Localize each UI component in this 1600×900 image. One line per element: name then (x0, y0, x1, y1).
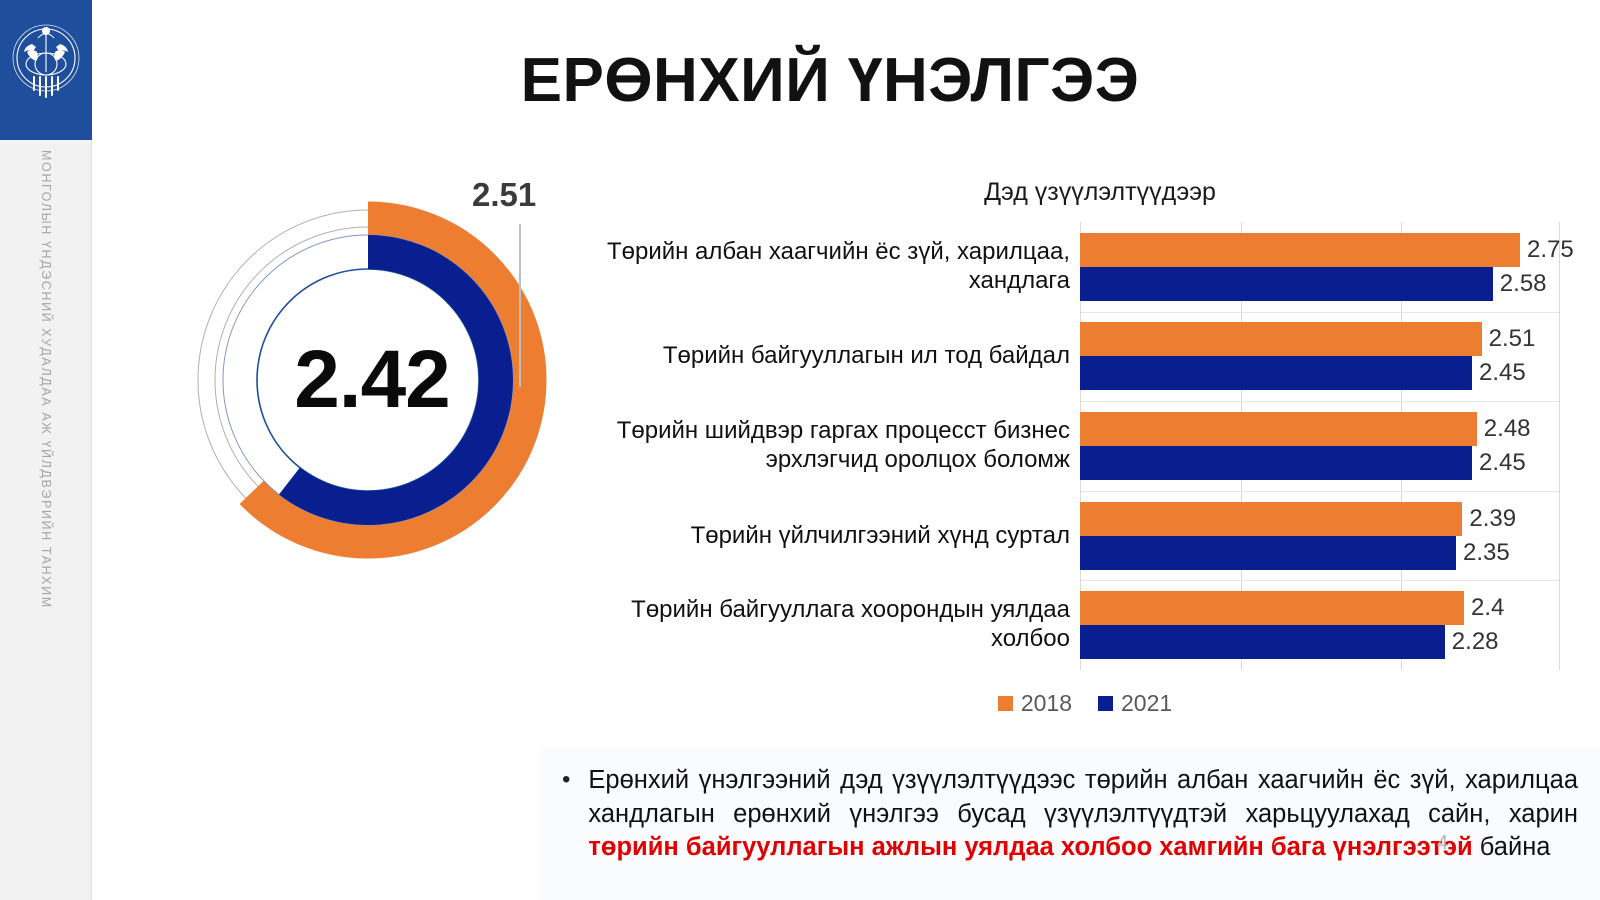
legend-item-2021[interactable]: 2021 (1098, 690, 1172, 717)
legend-item-2018[interactable]: 2018 (998, 690, 1072, 717)
note-highlight: төрийн байгууллагын ажлын уялдаа холбоо … (588, 833, 1472, 861)
bar-value-label-2018: 2.48 (1477, 415, 1531, 443)
bar-chart-row: Төрийн шийдвэр гаргах процесст бизнес эр… (600, 401, 1570, 491)
bar-value-label-2021: 2.28 (1445, 628, 1499, 656)
bar-value-label-2018: 2.39 (1462, 505, 1516, 533)
bar-value-label-2018: 2.75 (1520, 236, 1574, 264)
bar-value-label-2018: 2.4 (1464, 594, 1504, 622)
bar-2021[interactable] (1080, 267, 1493, 301)
bar-chart-heading: Дэд үзүүлэлтүүдээр (830, 178, 1370, 207)
bar-value-label-2021: 2.45 (1472, 359, 1526, 387)
bar-value-label-2021: 2.35 (1456, 539, 1510, 567)
bar-2018[interactable] (1080, 412, 1477, 446)
sub-indicator-bar-chart: Төрийн албан хаагчийн ёс зүй, харилцаа, … (600, 222, 1570, 682)
donut-center-value: 2.42 (232, 290, 512, 470)
bar-chart-legend: 2018 2021 (600, 690, 1570, 717)
bar-chart-row: Төрийн албан хаагчийн ёс зүй, харилцаа, … (600, 222, 1570, 312)
legend-label-2021: 2021 (1121, 690, 1172, 717)
summary-note-box: • Ерөнхий үнэлгээний дэд үзүүлэлтүүдээс … (540, 748, 1600, 900)
note-part-2: байна (1473, 833, 1551, 861)
bar-2018[interactable] (1080, 233, 1520, 267)
bullet-glyph: • (562, 764, 570, 794)
bar-category-label: Төрийн үйлчилгээний хүнд суртал (600, 521, 1070, 550)
bar-value-label-2021: 2.45 (1472, 449, 1526, 477)
bar-2018[interactable] (1080, 502, 1462, 536)
bar-value-label-2018: 2.51 (1482, 325, 1536, 353)
legend-swatch-2021 (1098, 696, 1113, 711)
legend-label-2018: 2018 (1021, 690, 1072, 717)
left-rail: МОНГОЛЫН ҮНДЭСНИЙ ХУДАЛДАА АЖ ҮЙЛДВЭРИЙН… (0, 0, 92, 900)
overall-score-donut-chart: 2.42 2.51 (190, 182, 560, 592)
summary-note-text: Ерөнхий үнэлгээний дэд үзүүлэлтүүдээс тө… (588, 764, 1578, 865)
bar-category-label: Төрийн албан хаагчийн ёс зүй, харилцаа, … (600, 237, 1070, 296)
chamber-of-commerce-emblem-icon (10, 18, 82, 122)
page-title: ЕРӨНХИЙ ҮНЭЛГЭЭ (300, 45, 1360, 116)
bar-chart-row: Төрийн үйлчилгээний хүнд суртал2.392.35 (600, 491, 1570, 581)
bar-2018[interactable] (1080, 591, 1464, 625)
organization-name-vertical: МОНГОЛЫН ҮНДЭСНИЙ ХУДАЛДАА АЖ ҮЙЛДВЭРИЙН… (0, 150, 92, 710)
bar-category-label: Төрийн шийдвэр гаргах процесст бизнес эр… (600, 416, 1070, 475)
organization-name-text: МОНГОЛЫН ҮНДЭСНИЙ ХУДАЛДАА АЖ ҮЙЛДВЭРИЙН… (39, 150, 53, 609)
bar-2021[interactable] (1080, 356, 1472, 390)
legend-swatch-2018 (998, 696, 1013, 711)
bar-value-label-2021: 2.58 (1493, 270, 1547, 298)
note-part-1: Ерөнхий үнэлгээний дэд үзүүлэлтүүдээс тө… (588, 766, 1578, 828)
bar-chart-row: Төрийн байгууллага хоорондын уялдаа холб… (600, 580, 1570, 670)
bar-2021[interactable] (1080, 536, 1456, 570)
page-number: 4 (1437, 832, 1448, 855)
bar-2021[interactable] (1080, 446, 1472, 480)
bar-category-label: Төрийн байгууллагын ил тод байдал (600, 341, 1070, 370)
bar-2021[interactable] (1080, 625, 1445, 659)
bar-chart-row: Төрийн байгууллагын ил тод байдал2.512.4… (600, 312, 1570, 402)
logo-box (0, 0, 92, 140)
bar-category-label: Төрийн байгууллага хоорондын уялдаа холб… (600, 595, 1070, 654)
bar-2018[interactable] (1080, 322, 1482, 356)
slide-root: МОНГОЛЫН ҮНДЭСНИЙ ХУДАЛДАА АЖ ҮЙЛДВЭРИЙН… (0, 0, 1600, 900)
donut-outer-value-label: 2.51 (472, 176, 536, 214)
